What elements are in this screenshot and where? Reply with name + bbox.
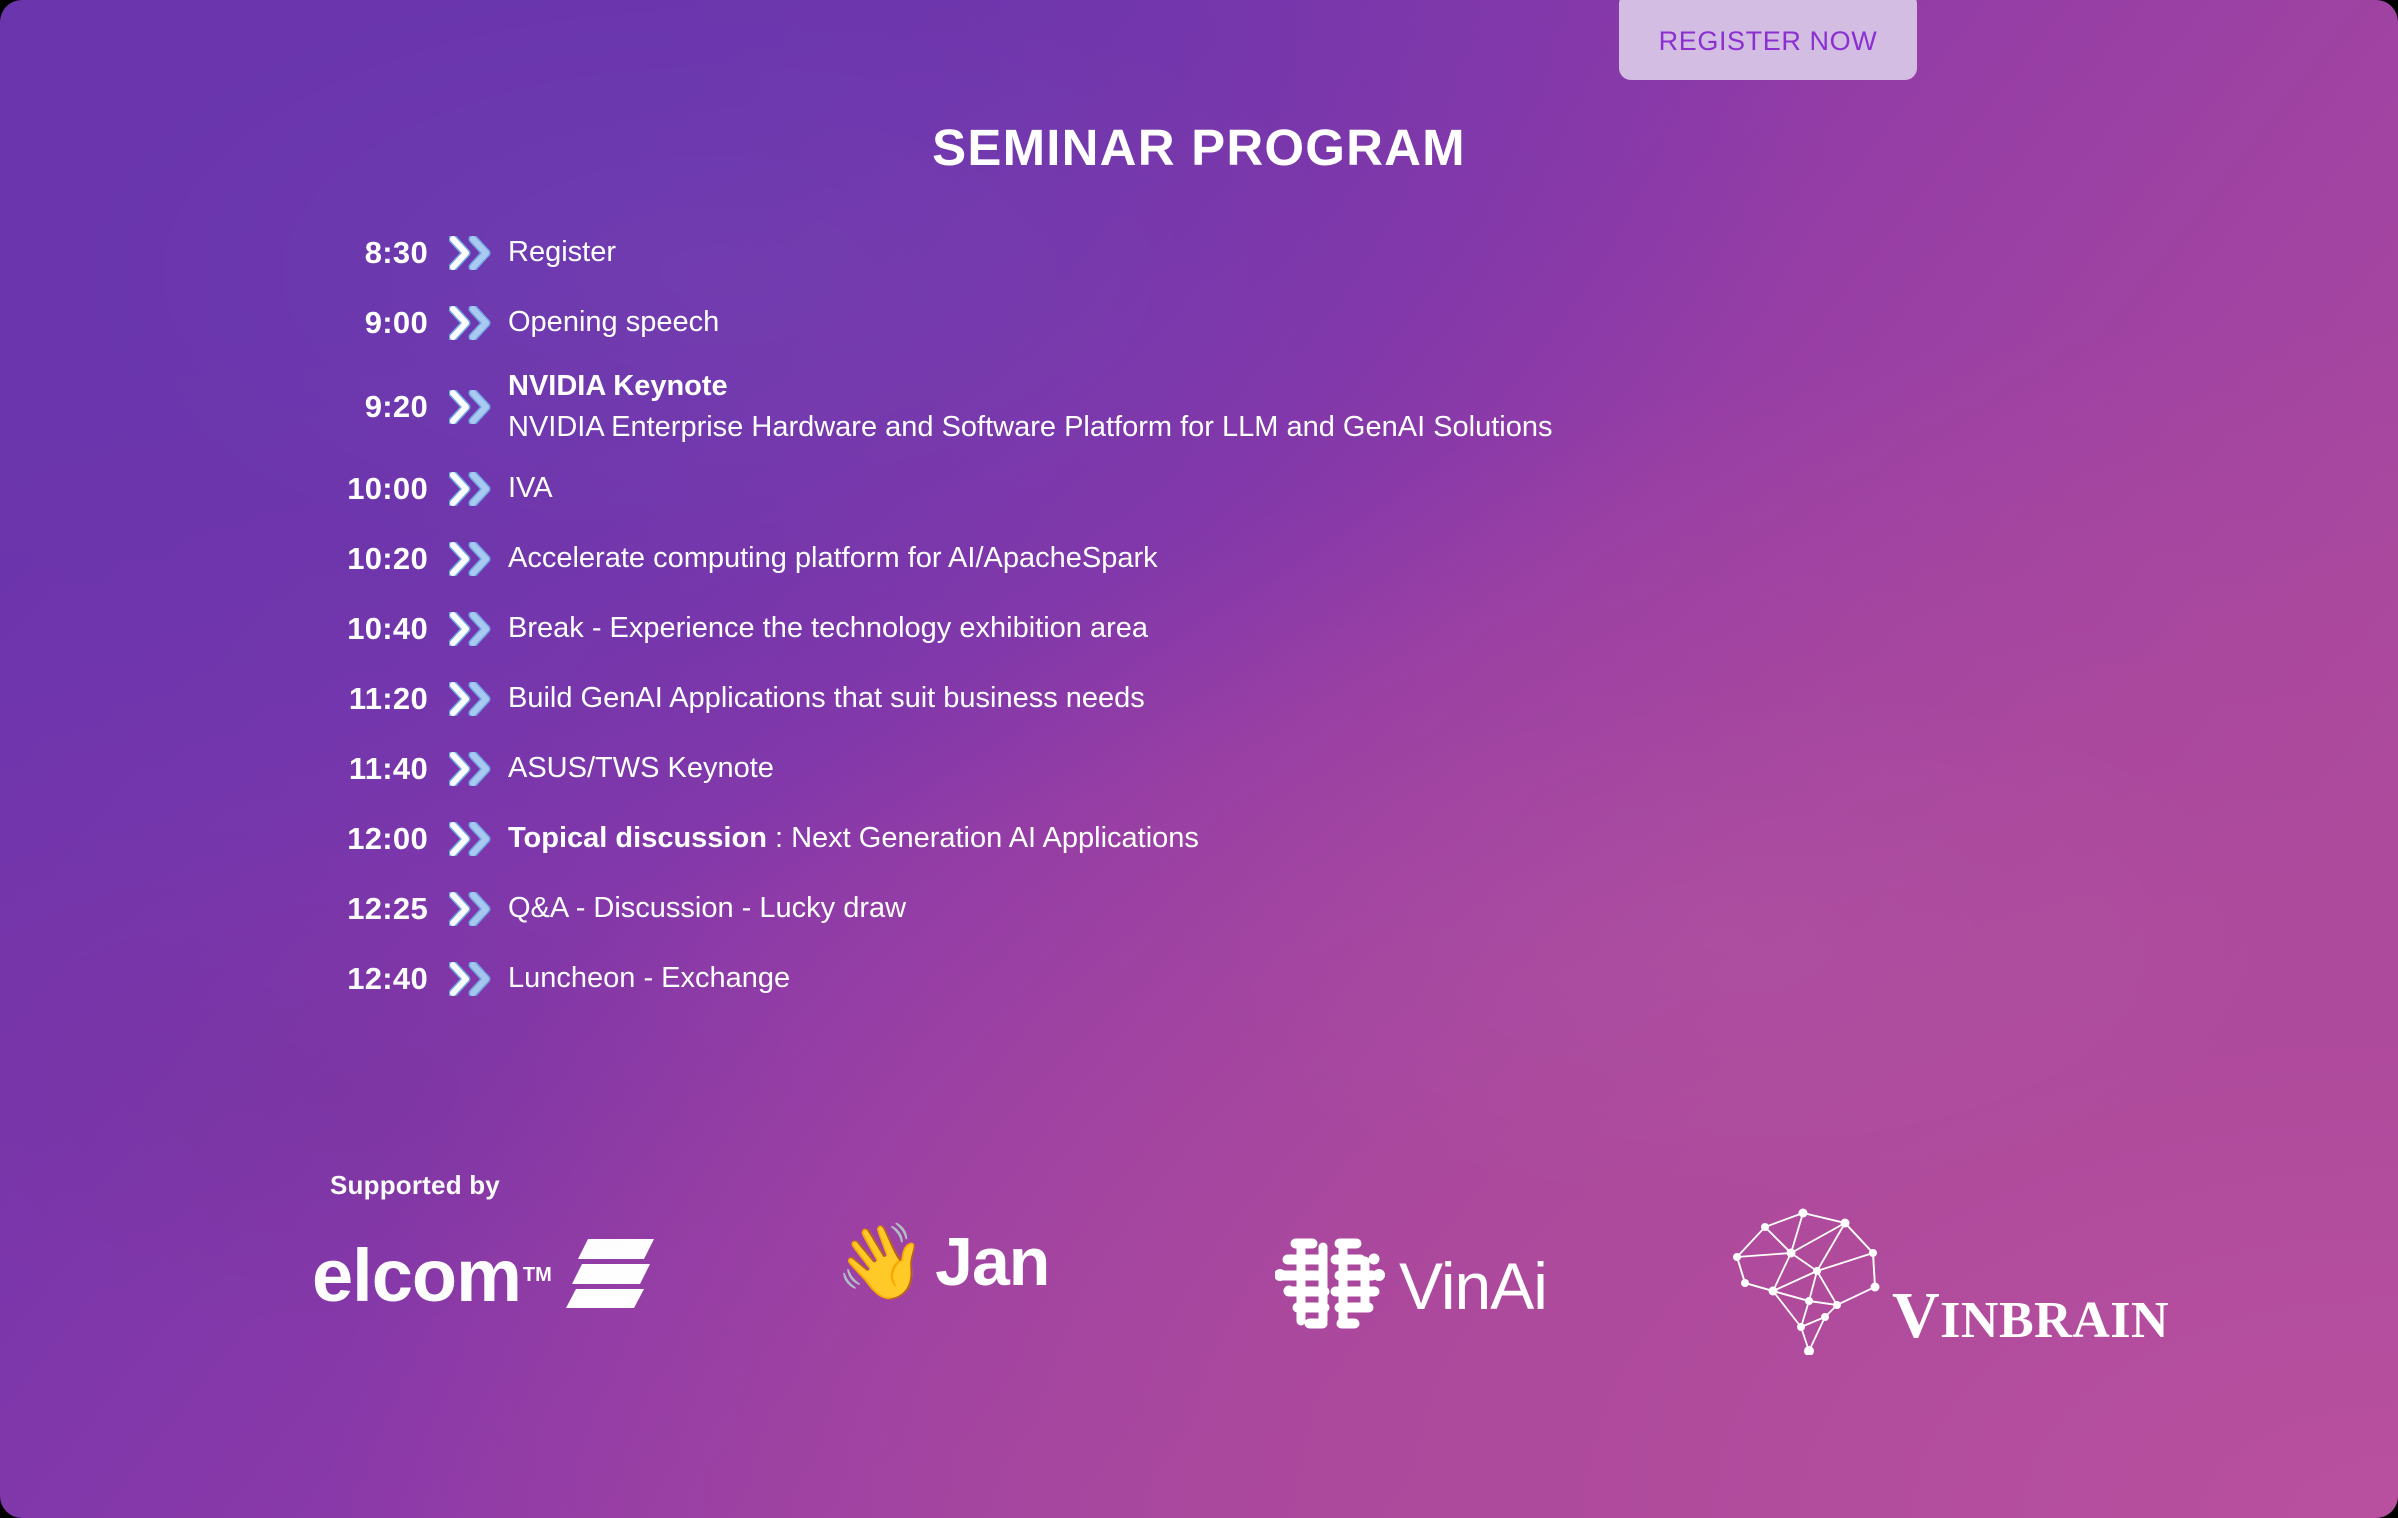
program-row-description: ASUS/TWS Keynote <box>502 749 774 788</box>
double-chevron-right-icon <box>428 682 502 716</box>
program-row-bold-prefix: Topical discussion <box>508 822 767 854</box>
program-row: 12:40Luncheon - Exchange <box>300 948 2000 1010</box>
supporter-logos: elcom TM 👋 Jan <box>300 1215 2140 1365</box>
program-row-description: NVIDIA KeynoteNVIDIA Enterprise Hardware… <box>502 367 1553 447</box>
double-chevron-right-icon <box>428 752 502 786</box>
supported-by-label: Supported by <box>330 1170 500 1201</box>
program-row: 8:30Register <box>300 222 2000 284</box>
elcom-e-mark-icon <box>566 1237 656 1314</box>
program-row-time: 10:20 <box>300 541 428 577</box>
page-title: SEMINAR PROGRAM <box>0 118 2398 177</box>
program-row-time: 9:00 <box>300 305 428 341</box>
program-row-time: 10:00 <box>300 471 428 507</box>
double-chevron-right-icon <box>428 390 502 424</box>
elcom-wordmark: elcom <box>312 1239 521 1313</box>
program-row-time: 12:40 <box>300 961 428 997</box>
program-row-time: 10:40 <box>300 611 428 647</box>
vinai-circuit-icon <box>1275 1233 1387 1338</box>
vinai-wordmark: VinAi <box>1399 1248 1547 1324</box>
double-chevron-right-icon <box>428 822 502 856</box>
program-row-title: NVIDIA Keynote <box>508 367 1553 406</box>
program-row-time: 12:25 <box>300 891 428 927</box>
program-row: 12:00Topical discussion : Next Generatio… <box>300 808 2000 870</box>
waving-hand-icon: 👋 <box>835 1225 927 1299</box>
program-row: 11:20Build GenAI Applications that suit … <box>300 668 2000 730</box>
program-row: 10:00IVA <box>300 458 2000 520</box>
program-row: 12:25Q&A - Discussion - Lucky draw <box>300 878 2000 940</box>
program-row-description: Topical discussion : Next Generation AI … <box>502 819 1199 858</box>
program-row-time: 9:20 <box>300 389 428 425</box>
program-row-description: Luncheon - Exchange <box>502 959 790 998</box>
double-chevron-right-icon <box>428 612 502 646</box>
program-row-description: Register <box>502 233 616 272</box>
vinbrain-wordmark: VINBRAIN <box>1892 1278 2169 1354</box>
program-row: 9:00Opening speech <box>300 292 2000 354</box>
program-row: 9:20NVIDIA KeynoteNVIDIA Enterprise Hard… <box>300 362 2000 452</box>
program-row: 10:20Accelerate computing platform for A… <box>300 528 2000 590</box>
program-row-description: Build GenAI Applications that suit busin… <box>502 679 1145 718</box>
program-row-time: 11:40 <box>300 751 428 787</box>
register-now-button[interactable]: REGISTER NOW <box>1619 0 1917 80</box>
vinbrain-network-brain-icon <box>1725 1205 1910 1360</box>
double-chevron-right-icon <box>428 306 502 340</box>
program-row-description: Accelerate computing platform for AI/Apa… <box>502 539 1158 578</box>
jan-wordmark: Jan <box>935 1223 1049 1301</box>
double-chevron-right-icon <box>428 962 502 996</box>
program-row-description: Opening speech <box>502 303 719 342</box>
logo-vinbrain: VINBRAIN <box>1725 1205 2169 1360</box>
program-row-description: Q&A - Discussion - Lucky draw <box>502 889 906 928</box>
program-row: 10:40Break - Experience the technology e… <box>300 598 2000 660</box>
double-chevron-right-icon <box>428 542 502 576</box>
elcom-trademark-symbol: TM <box>523 1264 552 1287</box>
program-row-description: IVA <box>502 469 553 508</box>
double-chevron-right-icon <box>428 472 502 506</box>
logo-vinai: VinAi <box>1275 1233 1547 1338</box>
double-chevron-right-icon <box>428 236 502 270</box>
logo-elcom: elcom TM <box>312 1237 656 1314</box>
program-row-text: : Next Generation AI Applications <box>767 822 1199 854</box>
seminar-program-slide: REGISTER NOW SEMINAR PROGRAM 8:30Registe… <box>0 0 2398 1518</box>
program-schedule-list: 8:30Register9:00Opening speech9:20NVIDIA… <box>300 222 2000 1018</box>
program-row-subtitle: NVIDIA Enterprise Hardware and Software … <box>508 408 1553 447</box>
program-row-time: 8:30 <box>300 235 428 271</box>
program-row: 11:40ASUS/TWS Keynote <box>300 738 2000 800</box>
program-row-description: Break - Experience the technology exhibi… <box>502 609 1148 648</box>
logo-jan: 👋 Jan <box>835 1223 1049 1301</box>
double-chevron-right-icon <box>428 892 502 926</box>
program-row-time: 11:20 <box>300 681 428 717</box>
program-row-time: 12:00 <box>300 821 428 857</box>
